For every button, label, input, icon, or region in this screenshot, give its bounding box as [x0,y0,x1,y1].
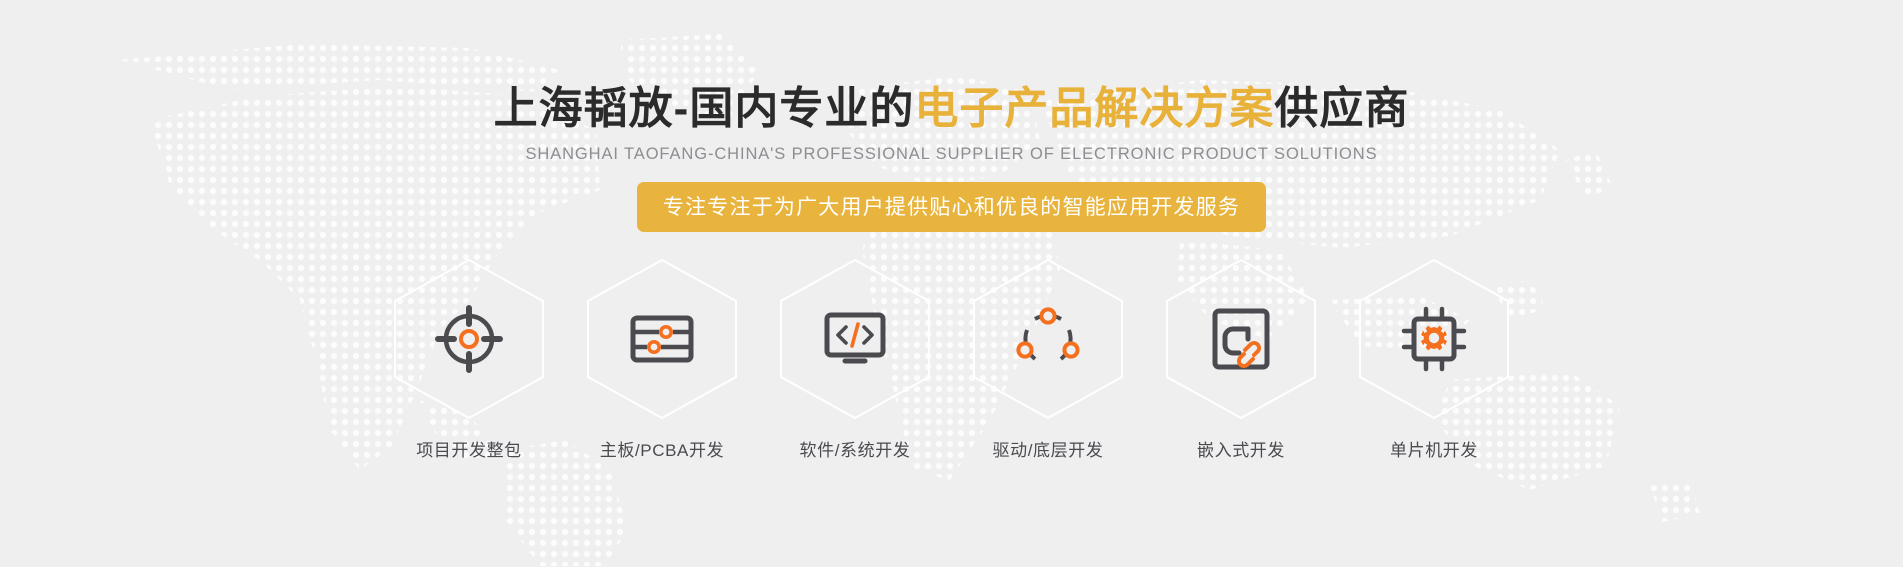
service-label: 软件/系统开发 [800,436,911,461]
service-label: 驱动/底层开发 [993,436,1104,461]
crosshair-target-icon [433,303,505,375]
headline-part-2: 供应商 [1274,84,1409,133]
hexagon-frame [389,256,549,422]
page-title: 上海韬放-国内专业的电子产品解决方案供应商 [494,86,1410,132]
service-label: 单片机开发 [1390,436,1478,461]
tagline-badge: 专注专注于为广大用户提供贴心和优良的智能应用开发服务 [637,182,1266,232]
hexagon-frame [775,256,935,422]
hexagon-frame [582,256,742,422]
headline-accent: 电子产品解决方案 [914,84,1274,133]
service-list: 项目开发整包 [373,256,1531,461]
service-label: 项目开发整包 [416,436,522,461]
circuit-board-icon [626,303,698,375]
service-label: 主板/PCBA开发 [600,436,724,461]
node-network-icon [1012,303,1084,375]
hexagon-frame [1354,256,1514,422]
microcontroller-gear-icon [1398,303,1470,375]
service-item-software-system[interactable]: 软件/系统开发 [759,256,952,461]
service-item-pcba[interactable]: 主板/PCBA开发 [566,256,759,461]
service-label: 嵌入式开发 [1197,436,1285,461]
headline-part-1: 上海韬放-国内专业的 [494,84,915,133]
page-subtitle: SHANGHAI TAOFANG-CHINA'S PROFESSIONAL SU… [525,145,1377,164]
chip-link-icon [1205,303,1277,375]
service-item-driver-lowlevel[interactable]: 驱动/底层开发 [952,256,1145,461]
service-item-embedded[interactable]: 嵌入式开发 [1145,256,1338,461]
monitor-code-icon [819,303,891,375]
service-item-project-package[interactable]: 项目开发整包 [373,256,566,461]
tagline-container: 专注专注于为广大用户提供贴心和优良的智能应用开发服务 [637,182,1266,232]
service-item-mcu[interactable]: 单片机开发 [1338,256,1531,461]
hexagon-frame [968,256,1128,422]
hexagon-frame [1161,256,1321,422]
hero-banner: 上海韬放-国内专业的电子产品解决方案供应商 SHANGHAI TAOFANG-C… [0,0,1903,567]
